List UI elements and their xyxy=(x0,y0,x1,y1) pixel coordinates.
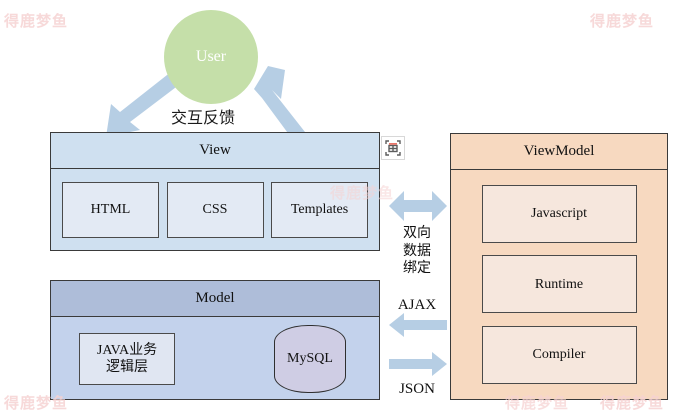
viewmodel-item-javascript: Javascript xyxy=(482,185,637,243)
binding-line-2: 数据 xyxy=(386,243,448,261)
viewmodel-panel-body: Javascript Runtime Compiler xyxy=(451,170,667,399)
viewmodel-panel-header: ViewModel xyxy=(451,134,667,170)
mysql-label: MySQL xyxy=(287,351,333,367)
two-way-binding-label: 双向 数据 绑定 xyxy=(386,225,448,278)
watermark: 得鹿梦鱼 xyxy=(4,10,68,31)
view-panel-header: View xyxy=(51,133,379,169)
view-item-html: HTML xyxy=(62,182,159,238)
model-panel-body: JAVA业务 逻辑层 MySQL xyxy=(51,317,379,399)
arrow-view-to-user xyxy=(254,66,305,140)
watermark: 得鹿梦鱼 xyxy=(600,392,664,413)
watermark: 得鹿梦鱼 xyxy=(505,392,569,413)
viewmodel-item-runtime: Runtime xyxy=(482,255,637,313)
ajax-label: AJAX xyxy=(386,297,448,314)
user-node: User xyxy=(164,10,258,104)
arrow-json-right xyxy=(389,352,447,376)
viewmodel-item-compiler: Compiler xyxy=(482,326,637,384)
json-label: JSON xyxy=(386,381,448,398)
java-box-line1: JAVA业务 xyxy=(97,342,157,360)
viewmodel-panel: ViewModel Javascript Runtime Compiler xyxy=(450,133,668,400)
model-panel-header: Model xyxy=(51,281,379,317)
arrow-view-viewmodel-bidirectional xyxy=(389,191,447,221)
diagram-canvas: 得鹿梦鱼 得鹿梦鱼 得鹿梦鱼 得鹿梦鱼 得鹿梦鱼 得鹿梦鱼 User xyxy=(0,0,693,420)
binding-line-3: 绑定 xyxy=(386,260,448,278)
watermark: 得鹿梦鱼 xyxy=(330,182,394,203)
arrow-ajax-left xyxy=(389,313,447,337)
java-box-line2: 逻辑层 xyxy=(97,359,157,377)
watermark: 得鹿梦鱼 xyxy=(4,392,68,413)
user-label: User xyxy=(164,48,258,66)
binding-line-1: 双向 xyxy=(386,225,448,243)
scan-capture-icon[interactable] xyxy=(381,136,405,160)
mysql-database-cylinder: MySQL xyxy=(274,325,346,393)
model-panel: Model JAVA业务 逻辑层 MySQL xyxy=(50,280,380,400)
interaction-feedback-label: 交互反馈 xyxy=(171,104,235,128)
view-item-css: CSS xyxy=(167,182,264,238)
java-business-logic-box: JAVA业务 逻辑层 xyxy=(79,333,175,385)
watermark: 得鹿梦鱼 xyxy=(590,10,654,31)
